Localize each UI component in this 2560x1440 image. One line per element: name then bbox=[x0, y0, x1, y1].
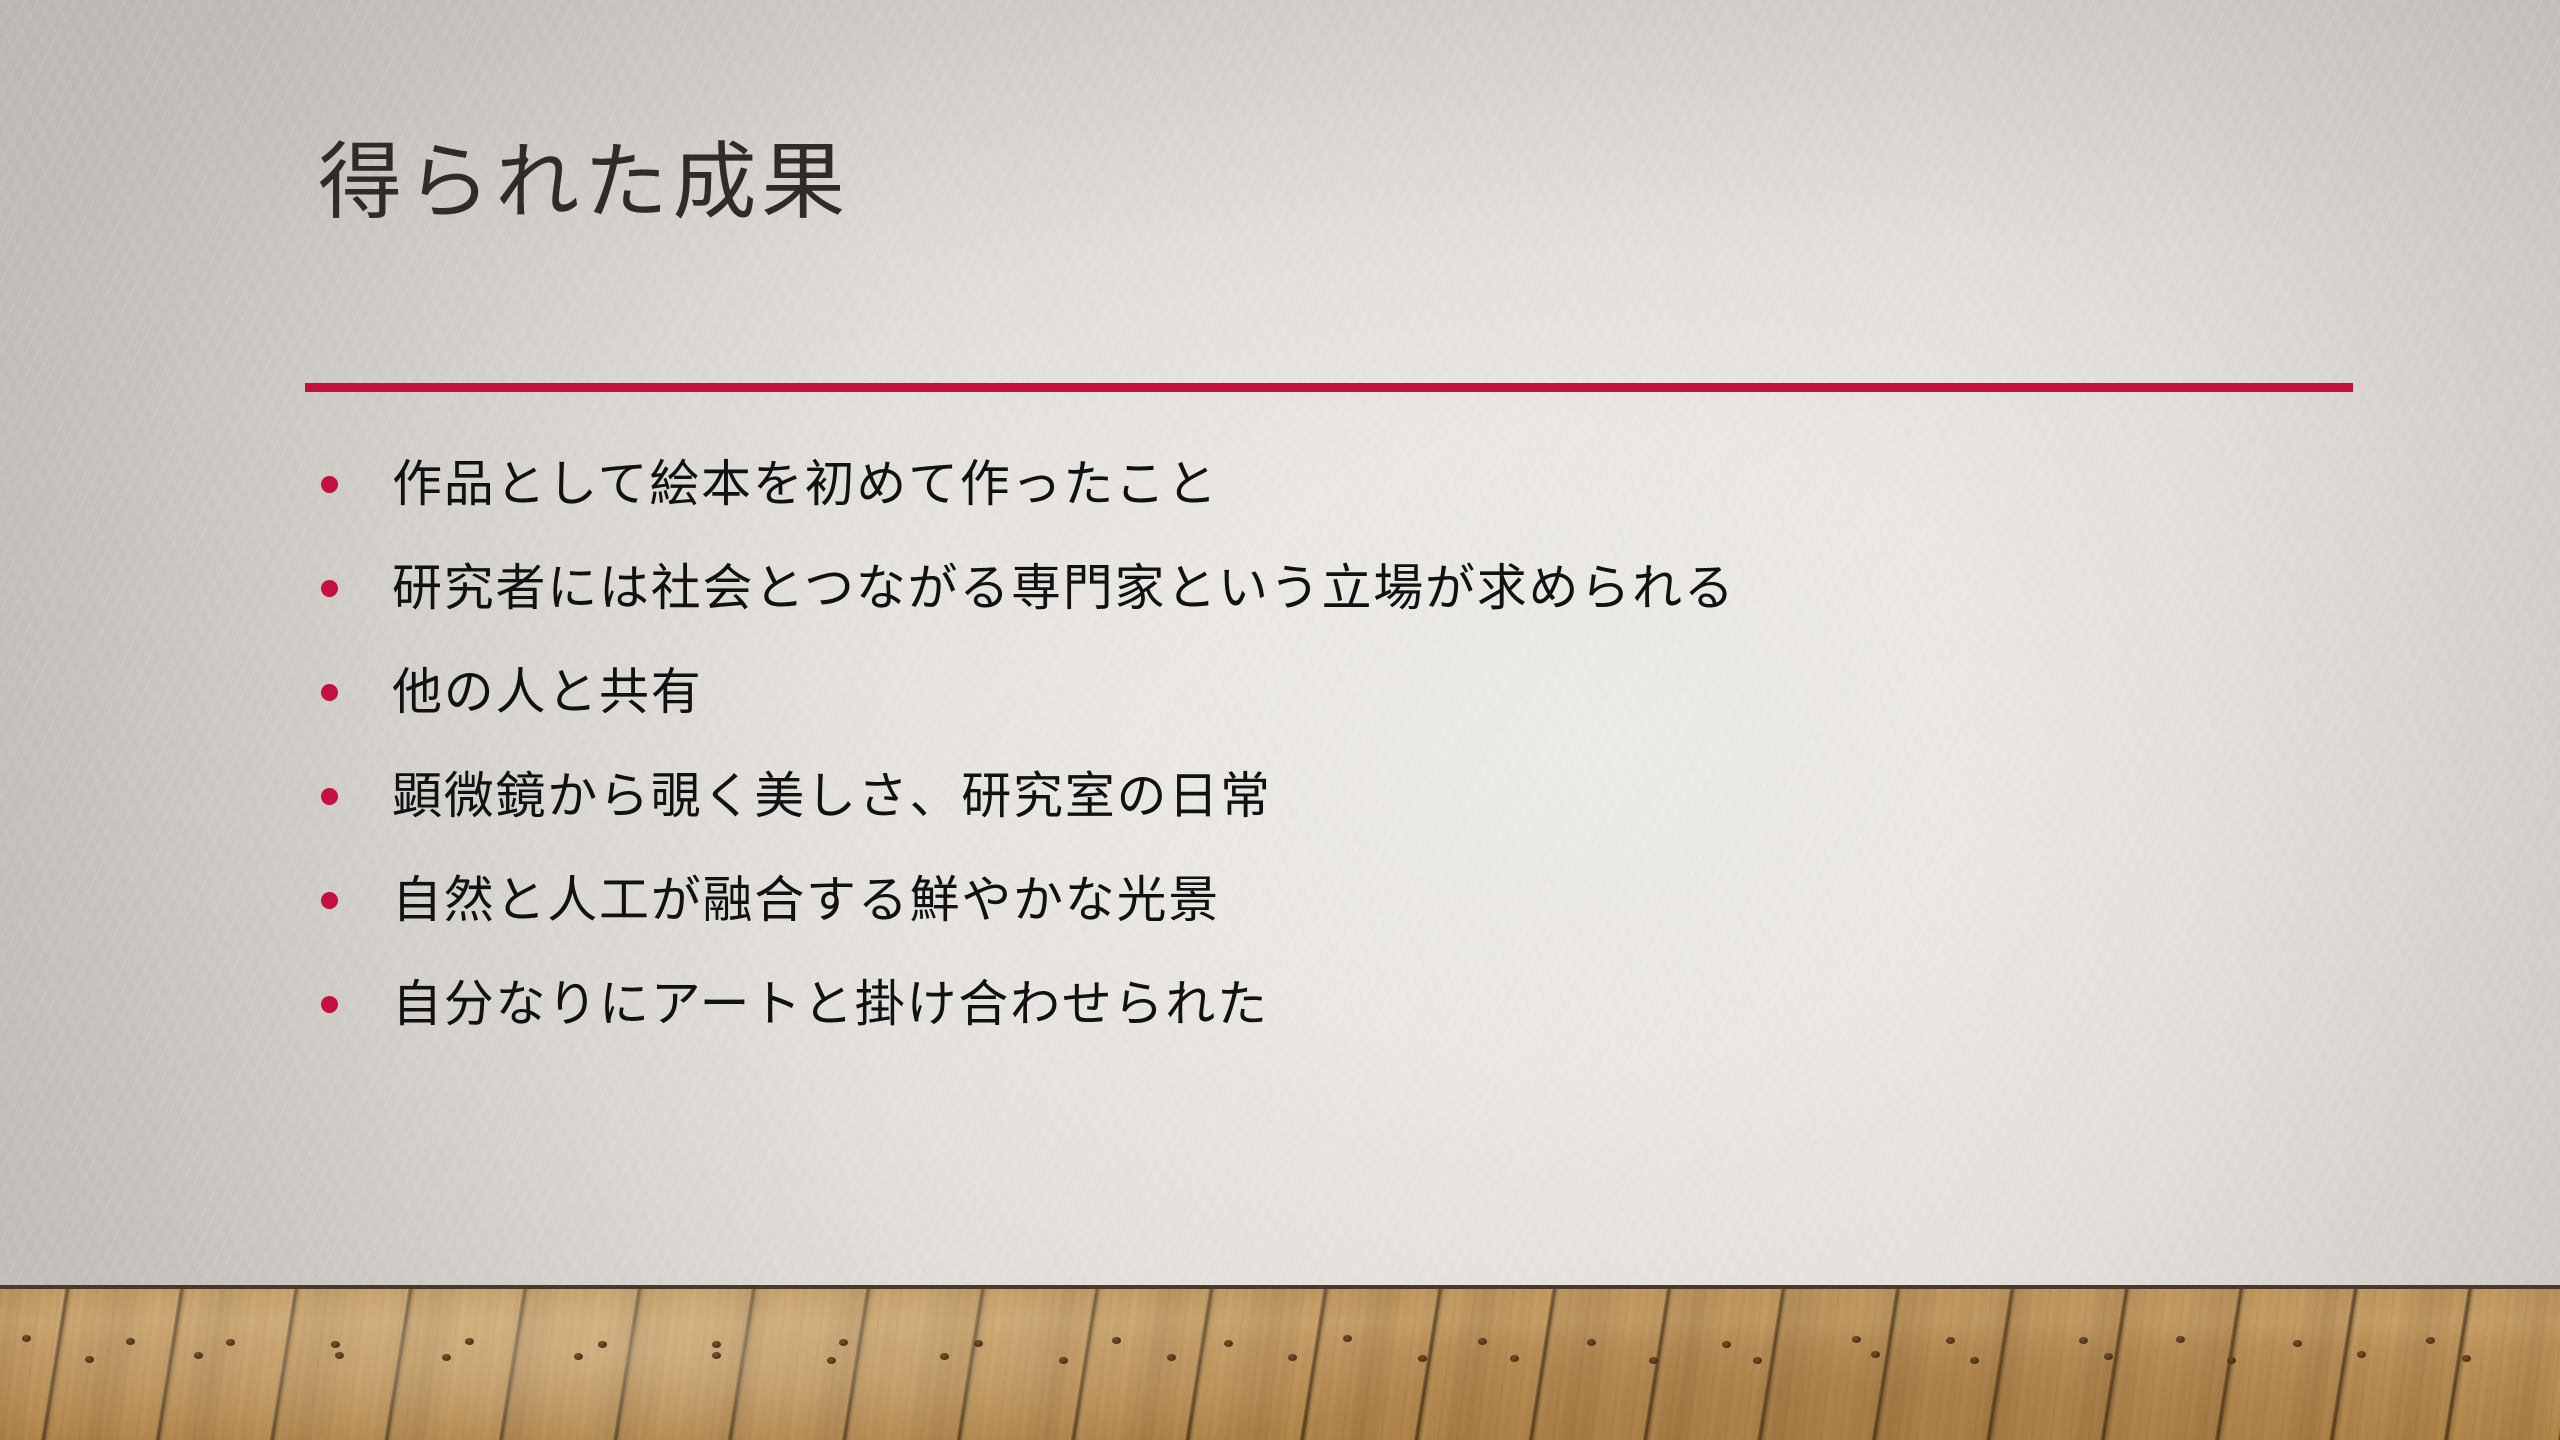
floor-nail-head bbox=[331, 1341, 340, 1348]
wood-floor bbox=[0, 1285, 2560, 1440]
bullet-dot-icon bbox=[321, 788, 338, 805]
floor-nail-head bbox=[574, 1353, 583, 1360]
bullet-dot-icon bbox=[321, 476, 338, 493]
floor-nail-head bbox=[712, 1352, 721, 1359]
floor-nail-head bbox=[85, 1356, 94, 1363]
floor-nail-head bbox=[839, 1339, 848, 1346]
bullet-item-label: 他の人と共有 bbox=[392, 662, 703, 722]
floor-nail-head bbox=[1343, 1335, 1352, 1342]
floor-nail-head bbox=[2357, 1351, 2366, 1358]
floor-nail-head bbox=[126, 1338, 135, 1345]
floor-nail-head bbox=[1722, 1341, 1731, 1348]
floor-nail-head bbox=[1970, 1357, 1979, 1364]
floor-nail-head bbox=[598, 1341, 607, 1348]
floor-nail-head bbox=[1288, 1354, 1297, 1361]
floor-nail-head bbox=[1649, 1357, 1658, 1364]
list-item: 作品として絵本を初めて作ったこと bbox=[305, 432, 2405, 536]
floor-nail-head bbox=[1871, 1351, 1880, 1358]
bullet-item-label: 顕微鏡から覗く美しさ、研究室の日常 bbox=[392, 766, 1272, 826]
floor-nail-head bbox=[2293, 1340, 2302, 1347]
bullet-item-label: 自然と人工が融合する鮮やかな光景 bbox=[392, 870, 1220, 930]
floor-nail-head bbox=[194, 1352, 203, 1359]
floor-nail-head bbox=[2104, 1353, 2113, 1360]
bullet-item-label: 自分なりにアートと掛け合わせられた bbox=[392, 974, 1269, 1034]
list-item: 自然と人工が融合する鮮やかな光景 bbox=[305, 848, 2405, 952]
floor-nail-head bbox=[335, 1352, 344, 1359]
floor-nail-head bbox=[1224, 1340, 1233, 1347]
floor-nail-head bbox=[1418, 1355, 1427, 1362]
bullet-dot-icon bbox=[321, 684, 338, 701]
floor-nail-head bbox=[1510, 1355, 1519, 1362]
list-item: 顕微鏡から覗く美しさ、研究室の日常 bbox=[305, 744, 2405, 848]
floor-nail-head bbox=[1478, 1338, 1487, 1345]
floor-nail-head bbox=[2079, 1337, 2088, 1344]
presentation-slide: 得られた成果 作品として絵本を初めて作ったこと 研究者には社会とつながる専門家と… bbox=[0, 0, 2560, 1440]
floor-nail-head bbox=[442, 1354, 451, 1361]
floor-nail-head bbox=[1167, 1354, 1176, 1361]
floor-nail-head bbox=[22, 1335, 31, 1342]
title-divider-rule bbox=[305, 383, 2353, 392]
floor-nail-head bbox=[465, 1338, 474, 1345]
floor-nail-head bbox=[226, 1339, 235, 1346]
floor-nail-head bbox=[974, 1340, 983, 1347]
list-item: 他の人と共有 bbox=[305, 640, 2405, 744]
bullet-dot-icon bbox=[321, 996, 338, 1013]
floor-nail-head bbox=[1852, 1336, 1861, 1343]
bullet-item-label: 研究者には社会とつながる専門家という立場が求められる bbox=[392, 558, 1736, 618]
bullet-list: 作品として絵本を初めて作ったこと 研究者には社会とつながる専門家という立場が求め… bbox=[305, 432, 2405, 1056]
floor-nail-head bbox=[1946, 1337, 1955, 1344]
floor-nail-heads bbox=[0, 1289, 2560, 1440]
floor-nail-head bbox=[1753, 1357, 1762, 1364]
floor-nail-head bbox=[940, 1353, 949, 1360]
floor-nail-head bbox=[827, 1357, 836, 1364]
bullet-dot-icon bbox=[321, 580, 338, 597]
floor-nail-head bbox=[2227, 1357, 2236, 1364]
bullet-dot-icon bbox=[321, 892, 338, 909]
floor-nail-head bbox=[1112, 1337, 1121, 1344]
floor-nail-head bbox=[2462, 1355, 2471, 1362]
list-item: 研究者には社会とつながる専門家という立場が求められる bbox=[305, 536, 2405, 640]
floor-nail-head bbox=[1587, 1339, 1596, 1346]
bullet-item-label: 作品として絵本を初めて作ったこと bbox=[392, 454, 1219, 514]
slide-title: 得られた成果 bbox=[318, 135, 850, 229]
slide-content: 得られた成果 作品として絵本を初めて作ったこと 研究者には社会とつながる専門家と… bbox=[0, 0, 2560, 1290]
list-item: 自分なりにアートと掛け合わせられた bbox=[305, 952, 2405, 1056]
floor-nail-head bbox=[2176, 1336, 2185, 1343]
floor-nail-head bbox=[1059, 1357, 1068, 1364]
floor-nail-head bbox=[2426, 1337, 2435, 1344]
floor-nail-head bbox=[712, 1341, 721, 1348]
